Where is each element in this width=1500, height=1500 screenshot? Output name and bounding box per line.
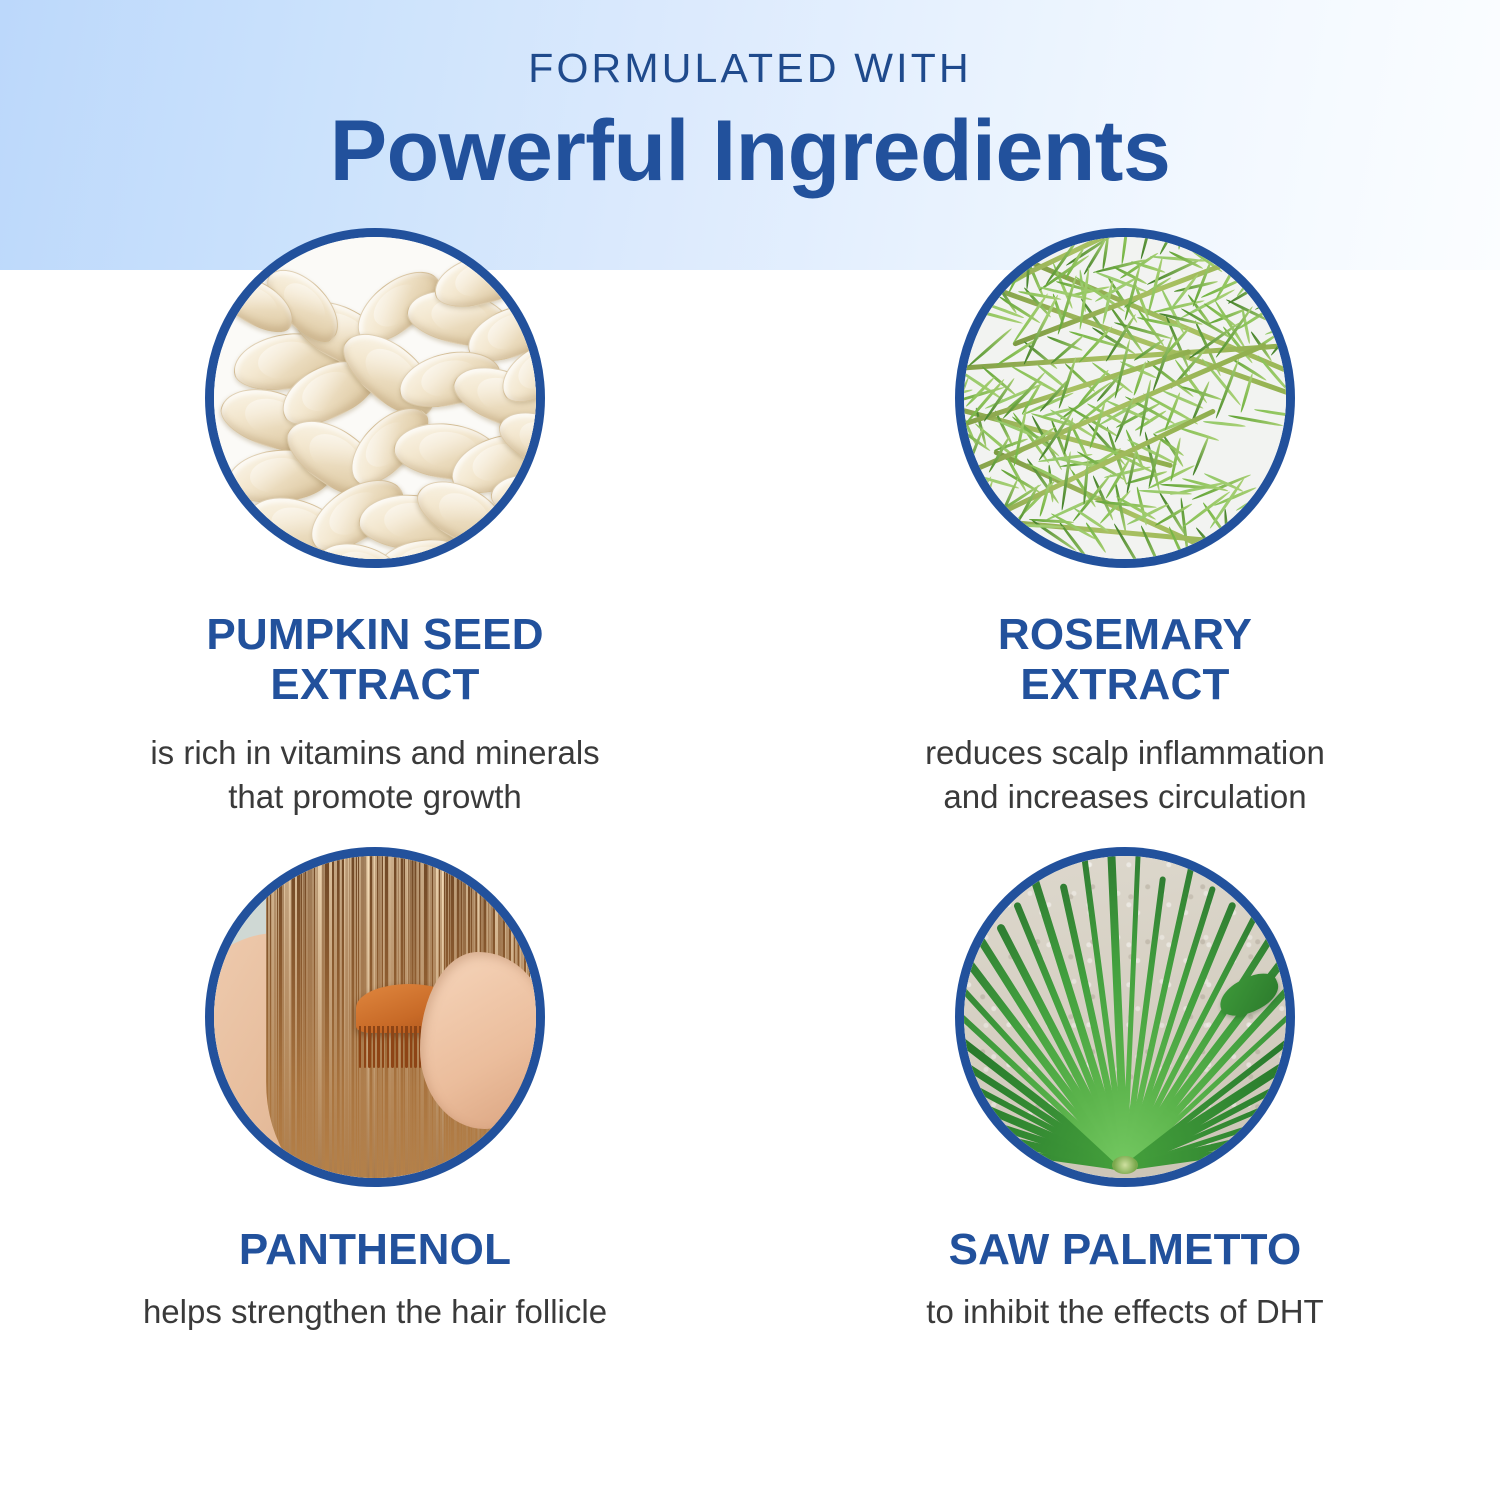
rosemary-needle <box>1177 237 1183 250</box>
ingredient-description: to inhibit the effects of DHT <box>926 1290 1323 1334</box>
ingredient-title: ROSEMARY EXTRACT <box>998 610 1252 709</box>
rosemary-needle <box>1120 237 1130 265</box>
ingredient-image-circle <box>205 228 545 568</box>
ingredient-image-circle <box>955 847 1295 1187</box>
pumpkin-seeds-photo <box>214 237 536 559</box>
ingredient-card-panthenol: PANTHENOL helps strengthen the hair foll… <box>0 847 750 1334</box>
comb-tooth <box>401 1026 403 1068</box>
comb-tooth <box>391 1026 393 1068</box>
rosemary-needle <box>964 257 1009 276</box>
rosemary-needle <box>1099 489 1132 524</box>
ingredient-grid: PUMPKIN SEED EXTRACT is rich in vitamins… <box>0 228 1500 1334</box>
hair-strand <box>302 856 305 1178</box>
rosemary-needle <box>1237 508 1268 531</box>
comb-tooth <box>373 1026 375 1068</box>
ingredient-description: is rich in vitamins and minerals that pr… <box>150 731 599 818</box>
rosemary-sprigs-photo <box>964 237 1286 559</box>
comb-tooth <box>377 1026 379 1068</box>
comb-tooth <box>359 1026 361 1068</box>
rosemary-needle <box>1258 248 1270 293</box>
ingredient-title: PUMPKIN SEED EXTRACT <box>206 610 543 709</box>
comb-tooth <box>382 1026 384 1068</box>
header-eyebrow: FORMULATED WITH <box>528 48 972 89</box>
ingredient-title: PANTHENOL <box>239 1225 511 1275</box>
ingredient-card-pumpkin-seed: PUMPKIN SEED EXTRACT is rich in vitamins… <box>0 228 750 819</box>
hair-strand <box>290 856 292 1178</box>
ingredient-card-rosemary: ROSEMARY EXTRACT reduces scalp inflammat… <box>750 228 1500 819</box>
hair-strand <box>268 856 270 1178</box>
rosemary-needle <box>1203 420 1246 428</box>
comb-tooth <box>405 1026 407 1068</box>
comb-tooth <box>396 1026 398 1068</box>
hair-strand <box>306 856 308 1178</box>
ingredient-image-circle <box>205 847 545 1187</box>
hair-strand <box>350 856 351 1178</box>
rosemary-needle <box>1191 435 1210 476</box>
ingredient-description: helps strengthen the hair follicle <box>143 1290 607 1334</box>
rosemary-needle <box>1253 408 1286 420</box>
rosemary-needle <box>1284 354 1286 378</box>
hair-strand <box>324 856 325 1178</box>
rosemary-needle <box>1264 508 1286 533</box>
hand <box>420 952 536 1129</box>
hair-strand <box>295 856 297 1178</box>
hair-strand <box>330 856 332 1178</box>
comb-tooth <box>414 1026 416 1068</box>
hair-strand <box>340 856 343 1178</box>
saw-palmetto-frond-photo <box>964 856 1286 1178</box>
rosemary-needle <box>1177 426 1219 442</box>
ingredient-image-circle <box>955 228 1295 568</box>
page-title: Powerful Ingredients <box>330 105 1171 198</box>
comb-tooth <box>387 1026 389 1068</box>
comb-tooth <box>364 1026 366 1068</box>
comb-tooth <box>410 1026 412 1068</box>
hair-strand <box>276 856 278 1178</box>
rosemary-needle <box>1281 242 1286 288</box>
comb-tooth <box>368 1026 370 1068</box>
ingredient-description: reduces scalp inflammation and increases… <box>925 731 1325 818</box>
hair-strand <box>334 856 336 1178</box>
hair-strand <box>266 856 267 1178</box>
hair-strand <box>278 856 279 1178</box>
ingredient-card-saw-palmetto: SAW PALMETTO to inhibit the effects of D… <box>750 847 1500 1334</box>
ingredient-title: SAW PALMETTO <box>949 1225 1302 1275</box>
rosemary-needle <box>985 529 1046 541</box>
rosemary-needle <box>1235 478 1286 513</box>
combing-wet-hair-photo <box>214 856 536 1178</box>
